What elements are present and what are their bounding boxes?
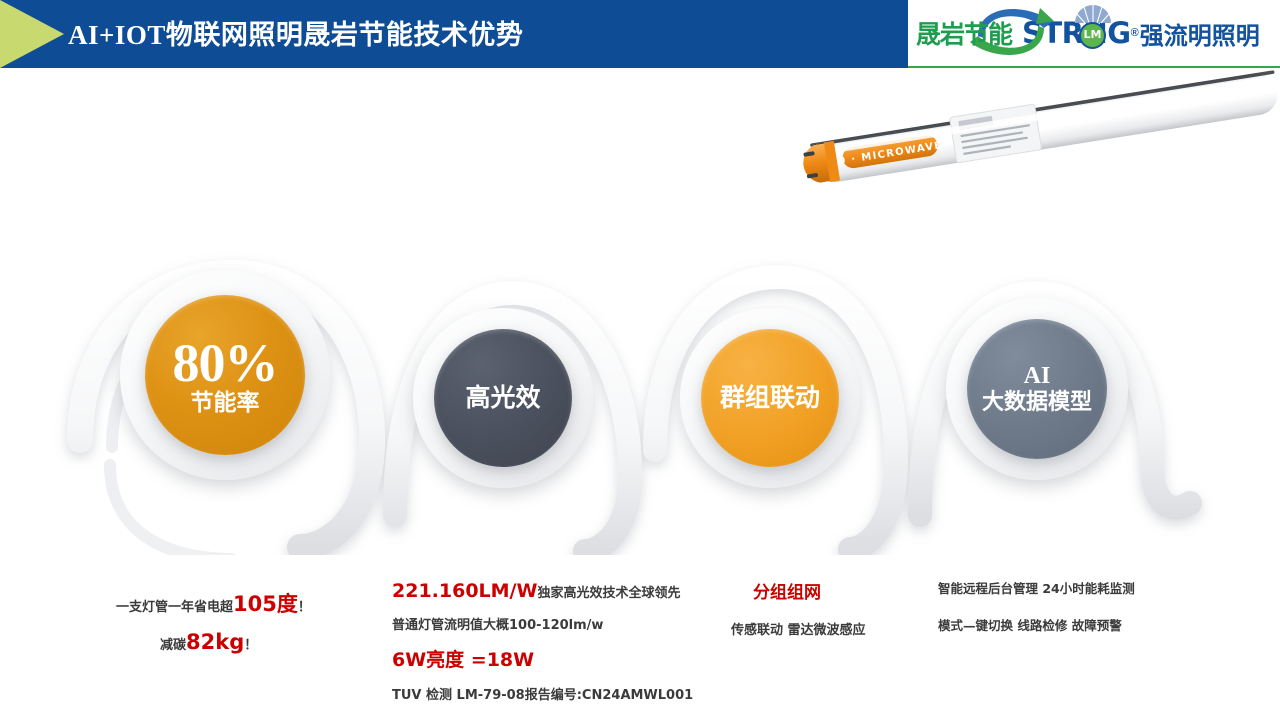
fan-arc-icon [1074, 4, 1112, 24]
caption-4-line-2: 模式—键切换 线路检修 故障预警 [938, 615, 1135, 634]
caption-1-l1-c: ！ [298, 600, 311, 615]
caption-1-l2-a: 减碳 [160, 638, 186, 653]
caption-2-line-3: 6W亮度 =18W [392, 645, 693, 672]
caption-2-line-1: 221.160LM/W独家高光效技术全球领先 [392, 580, 693, 602]
caption-2-lumens-value: 221.160LM/W [392, 580, 537, 602]
node-value-4: AI [1024, 363, 1051, 390]
caption-1-l2-value: 82kg [186, 630, 244, 654]
node-caption-4: 大数据模型 [982, 391, 1092, 416]
caption-block-group-linkage: 分组组网 传感联动 雷达微波感应 [753, 578, 866, 650]
caption-1-l2-c: ！ [244, 638, 257, 653]
caption-4-management: 智能远程后台管理 24小时能耗监测 [938, 581, 1135, 596]
caption-block-energy-saving: 一支灯管一年省电超105度！ 减碳82kg！ [108, 588, 311, 666]
process-diagram: 80% 节能率 高光效 群组联动 AI 大数据模型 [0, 215, 1280, 555]
brand-strong-lockup: STRNG LM ® 强流明照明 [1022, 16, 1260, 51]
caption-2-report: TUV 检测 LM-79-08报告编号:CN24AMWL001 [392, 688, 693, 703]
brand-name-cn: 晟岩节能 [916, 15, 1012, 51]
caption-block-ai: 智能远程后台管理 24小时能耗监测 模式—键切换 线路检修 故障预警 [938, 578, 1135, 646]
caption-2-line-2: 普通灯管流明值大概100-120lm/w [392, 614, 693, 633]
caption-2-wattage: 6W亮度 =18W [392, 649, 534, 671]
node-group-linkage[interactable]: 群组联动 [701, 329, 839, 467]
caption-3-title: 分组组网 [753, 583, 821, 603]
caption-2-lumens-note: 独家高光效技术全球领先 [537, 586, 680, 601]
registered-trademark-icon: ® [1131, 27, 1139, 39]
slide-root: AI+IOT物联网照明晟岩节能技术优势 晟岩节能 STRNG LM ® 强流明照… [0, 0, 1280, 720]
caption-block-high-efficacy: 221.160LM/W独家高光效技术全球领先 普通灯管流明值大概100-120l… [392, 580, 693, 715]
node-energy-saving[interactable]: 80% 节能率 [145, 295, 305, 455]
header-bar: AI+IOT物联网照明晟岩节能技术优势 晟岩节能 STRNG LM ® 强流明照… [0, 0, 1280, 68]
node-ai-big-data[interactable]: AI 大数据模型 [967, 319, 1107, 459]
caption-3-detail: 传感联动 雷达微波感应 [731, 623, 866, 638]
product-photo-led-tube: 0 · MICROWAVE [770, 70, 1280, 200]
node-label-2: 高光效 [465, 384, 540, 412]
lm-mark-icon: LM [1079, 22, 1106, 49]
caption-1-l1-a: 一支灯管一年省电超 [116, 600, 233, 615]
caption-4-modes: 模式—键切换 线路检修 故障预警 [938, 618, 1122, 633]
chevron-right-icon [0, 0, 64, 68]
caption-1-line-1: 一支灯管一年省电超105度！ [116, 588, 311, 618]
caption-4-line-1: 智能远程后台管理 24小时能耗监测 [938, 578, 1135, 597]
page-title: AI+IOT物联网照明晟岩节能技术优势 [68, 13, 523, 52]
caption-1-line-2: 减碳82kg！ [160, 630, 311, 654]
node-caption-1: 节能率 [191, 391, 260, 417]
brand-name-cn2: 强流明照明 [1140, 16, 1260, 51]
caption-2-compare: 普通灯管流明值大概100-120lm/w [392, 618, 603, 633]
node-value-1: 80% [173, 333, 278, 393]
caption-1-l1-value: 105度 [233, 592, 298, 616]
node-label-3: 群组联动 [720, 384, 820, 412]
caption-2-line-4: TUV 检测 LM-79-08报告编号:CN24AMWL001 [392, 684, 693, 703]
caption-3-line-1: 分组组网 [753, 578, 866, 603]
caption-3-line-2: 传感联动 雷达微波感应 [731, 619, 866, 638]
node-high-efficacy[interactable]: 高光效 [434, 329, 572, 467]
brand-logo: 晟岩节能 STRNG LM ® 强流明照明 [908, 0, 1280, 68]
